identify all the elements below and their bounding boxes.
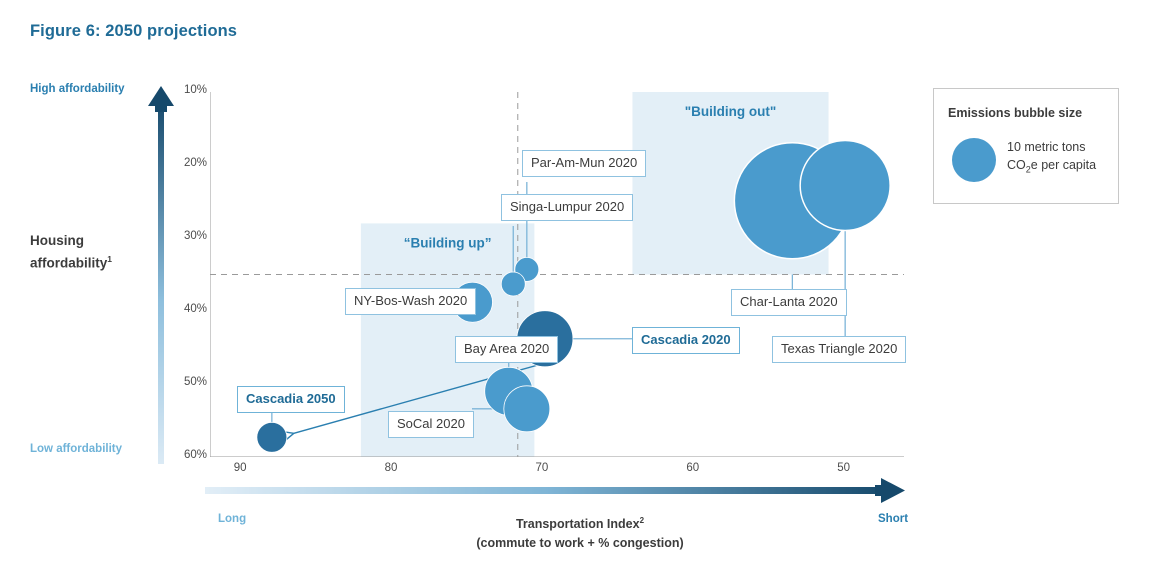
x-axis-title-footnote: 2 [640, 516, 644, 525]
x-tick-80: 80 [385, 462, 398, 474]
callout-texas-triangle[interactable]: Texas Triangle 2020 [772, 336, 906, 363]
x-tick-60: 60 [686, 462, 699, 474]
legend-value: 10 metric tons CO2e per capita [1007, 138, 1096, 179]
callout-ny-bos-wash[interactable]: NY-Bos-Wash 2020 [345, 288, 476, 315]
x-axis-title-line1: Transportation Index [516, 517, 640, 531]
y-axis-title: Housing affordability1 [30, 231, 112, 273]
callout-bay-area[interactable]: Bay Area 2020 [455, 336, 558, 363]
figure-title: Figure 6: 2050 projections [30, 22, 237, 41]
x-axis-long-label: Long [218, 513, 246, 525]
y-tick-60: 60% [184, 449, 207, 461]
y-tick-40: 40% [184, 303, 207, 315]
callout-socal[interactable]: SoCal 2020 [388, 411, 474, 438]
y-axis-title-footnote: 1 [107, 254, 112, 264]
legend-box: Emissions bubble size 10 metric tons CO2… [933, 88, 1119, 204]
bubble-singa-lumpur-2020[interactable] [501, 272, 525, 296]
y-axis-ticks: 10%20%30%40%50%60% [165, 92, 207, 462]
callout-par-am-mun[interactable]: Par-Am-Mun 2020 [522, 150, 646, 177]
zone-label-building-out: "Building out" [685, 104, 777, 119]
x-axis-ticks: 9080706050 [210, 462, 904, 482]
zone-label-building-up: “Building up” [404, 235, 492, 250]
y-axis-title-line2: affordability [30, 256, 107, 271]
y-axis-title-line1: Housing [30, 233, 84, 248]
bubble-texas-triangle-2020[interactable] [800, 140, 890, 230]
y-axis-high-label: High affordability [30, 83, 125, 95]
legend-value-line1: 10 metric tons [1007, 140, 1086, 154]
callout-cascadia-2050[interactable]: Cascadia 2050 [237, 386, 345, 413]
y-axis-low-label: Low affordability [30, 443, 122, 455]
y-tick-50: 50% [184, 376, 207, 388]
x-axis-title-line2: (commute to work + % congestion) [476, 536, 683, 550]
callout-char-lanta[interactable]: Char-Lanta 2020 [731, 289, 847, 316]
x-axis-short-label: Short [878, 513, 908, 525]
bubble-socal-2020[interactable] [504, 386, 550, 432]
x-tick-70: 70 [536, 462, 549, 474]
callout-cascadia-2020[interactable]: Cascadia 2020 [632, 327, 740, 354]
callout-singa-lumpur[interactable]: Singa-Lumpur 2020 [501, 194, 633, 221]
y-tick-30: 30% [184, 230, 207, 242]
legend-title: Emissions bubble size [948, 106, 1082, 120]
x-tick-50: 50 [837, 462, 850, 474]
y-tick-10: 10% [184, 84, 207, 96]
bubble-cascadia-2050[interactable] [257, 422, 287, 452]
legend-value-line2-post: e per capita [1031, 158, 1096, 172]
x-axis-title: Transportation Index2 (commute to work +… [380, 511, 780, 553]
legend-value-co2-pre: CO [1007, 158, 1026, 172]
y-tick-20: 20% [184, 157, 207, 169]
legend-bubble-icon [952, 138, 996, 182]
x-tick-90: 90 [234, 462, 247, 474]
